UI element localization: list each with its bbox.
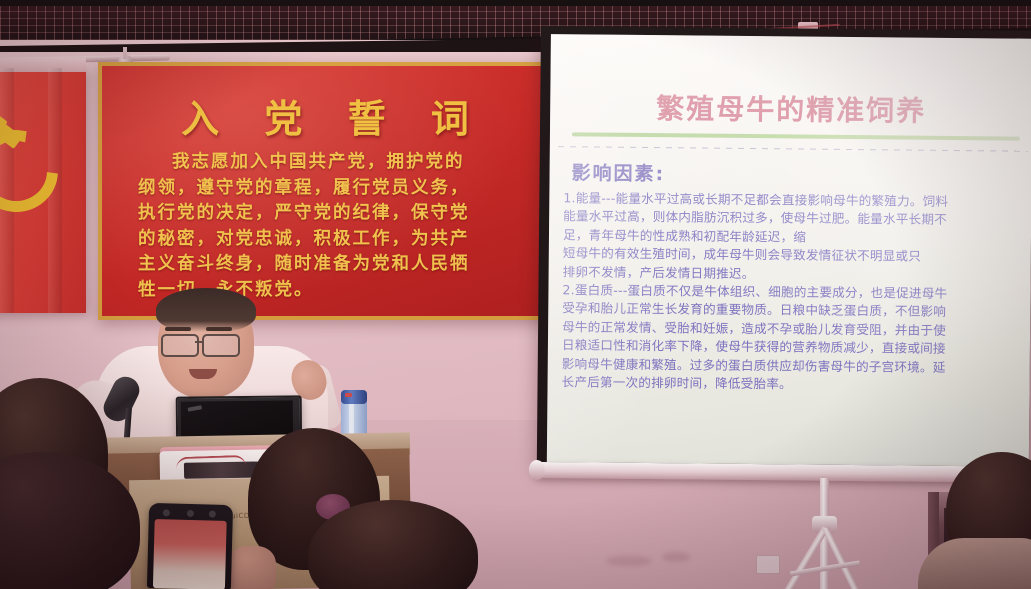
camera-lens-icon <box>163 509 170 516</box>
oath-line: 的秘密，对党忠诚，积极工作，为共产 <box>138 227 558 253</box>
projection-screen: 繁殖母牛的精准饲养 影响因素: 1.能量---能量水平过高或长期不足都会直接影响… <box>547 34 1031 467</box>
wall-scuff-mark <box>606 556 652 566</box>
screen-glare <box>547 34 1031 467</box>
banner-oath-text: 我志愿加入中国共产党，拥护党的 纲领，遵守党的章程，履行党员义务， 执行党的决定… <box>138 150 558 303</box>
speaker-hair <box>156 288 256 332</box>
oath-line: 执行党的决定，严守党的纪律，保守党 <box>138 201 558 227</box>
bottle-cap <box>341 390 367 404</box>
phone-screen <box>153 519 227 589</box>
oath-line: 主义奋斗终身，随时准备为党和人民牺 <box>138 252 558 278</box>
projection-screen-assembly: 繁殖母牛的精准饲养 影响因素: 1.能量---能量水平过高或长期不足都会直接影响… <box>537 26 1031 483</box>
oath-line: 纲领，遵守党的章程，履行党员义务， <box>138 176 558 202</box>
wall-scuff-mark <box>662 552 690 562</box>
smartphone-recording <box>147 503 233 589</box>
banner-title: 入 党 誓 词 <box>102 88 560 143</box>
projector-red-wire <box>176 455 246 469</box>
camera-lens-icon <box>187 510 194 517</box>
party-oath-banner: 入 党 誓 词 我志愿加入中国共产党，拥护党的 纲领，遵守党的章程，履行党员义务… <box>98 62 560 320</box>
eyeglass-bridge <box>195 341 204 343</box>
wall-power-socket <box>756 555 780 574</box>
speaker-eyebrow <box>165 327 191 331</box>
audience-hand <box>228 546 276 589</box>
oath-line: 我志愿加入中国共产党，拥护党的 <box>138 150 558 176</box>
camera-lens-icon <box>209 510 216 517</box>
hammer-sickle-icon <box>0 112 70 200</box>
screen-roller-cap <box>529 460 545 480</box>
speaker-eyebrow <box>206 327 232 331</box>
lecture-hall-photo: 入 党 誓 词 我志愿加入中国共产党，拥护党的 纲领，遵守党的章程，履行党员义务… <box>0 0 1031 589</box>
speaker-eyeglasses <box>161 334 199 357</box>
speaker-eyeglasses <box>202 334 240 357</box>
